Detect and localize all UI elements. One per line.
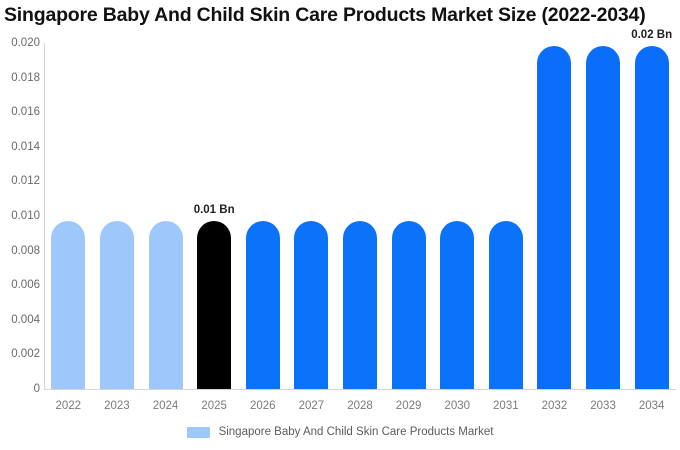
y-axis-tick-label: 0.010: [0, 210, 40, 222]
legend-color-swatch: [187, 427, 210, 438]
legend-item-label: Singapore Baby And Child Skin Care Produ…: [219, 426, 494, 439]
x-axis-tick-label: 2024: [141, 399, 190, 413]
y-axis-tick-label: 0.006: [0, 279, 40, 291]
bar-2029[interactable]: [392, 221, 426, 389]
y-axis: 0.0200.0180.0160.0140.0120.0100.0080.006…: [0, 0, 40, 450]
y-axis-tick-label: 0: [0, 383, 40, 395]
y-axis-tick-label: 0.008: [0, 245, 40, 257]
x-axis-tick-label: 2023: [93, 399, 142, 413]
bar-2034[interactable]: [635, 46, 669, 389]
bar-2033[interactable]: [586, 46, 620, 389]
y-axis-tick-label: 0.002: [0, 348, 40, 360]
x-axis-tick-label: 2028: [336, 399, 385, 413]
bar-2032[interactable]: [537, 46, 571, 389]
bar-2025[interactable]: [197, 221, 231, 389]
x-axis-tick-label: 2025: [190, 399, 239, 413]
data-label-2025: 0.01 Bn: [180, 204, 249, 217]
x-axis-tick-label: 2026: [238, 399, 287, 413]
bar-2022[interactable]: [51, 221, 85, 389]
chart-title: Singapore Baby And Child Skin Care Produ…: [4, 2, 680, 28]
x-axis-tick-label: 2031: [482, 399, 531, 413]
chart-legend: Singapore Baby And Child Skin Care Produ…: [0, 426, 680, 439]
bar-2030[interactable]: [440, 221, 474, 389]
y-axis-tick-label: 0.016: [0, 106, 40, 118]
y-axis-tick-label: 0.004: [0, 314, 40, 326]
bar-2026[interactable]: [246, 221, 280, 389]
x-axis-tick-label: 2022: [44, 399, 93, 413]
bar-2027[interactable]: [294, 221, 328, 389]
bar-2028[interactable]: [343, 221, 377, 389]
y-axis-tick-label: 0.018: [0, 72, 40, 84]
x-axis-line: [44, 389, 676, 390]
legend-item[interactable]: Singapore Baby And Child Skin Care Produ…: [187, 426, 494, 439]
y-axis-tick-label: 0.020: [0, 37, 40, 49]
x-axis-tick-label: 2033: [579, 399, 628, 413]
data-label-2034: 0.02 Bn: [617, 29, 680, 42]
plot-area: [44, 43, 676, 389]
bar-chart: Singapore Baby And Child Skin Care Produ…: [0, 0, 680, 450]
bar-2031[interactable]: [489, 221, 523, 389]
bar-2023[interactable]: [100, 221, 134, 389]
x-axis-tick-label: 2029: [384, 399, 433, 413]
y-axis-tick-label: 0.014: [0, 141, 40, 153]
y-axis-tick-label: 0.012: [0, 175, 40, 187]
x-axis-tick-label: 2032: [530, 399, 579, 413]
x-axis-tick-label: 2027: [287, 399, 336, 413]
x-axis-tick-label: 2034: [627, 399, 676, 413]
x-axis-tick-label: 2030: [433, 399, 482, 413]
bar-2024[interactable]: [149, 221, 183, 389]
